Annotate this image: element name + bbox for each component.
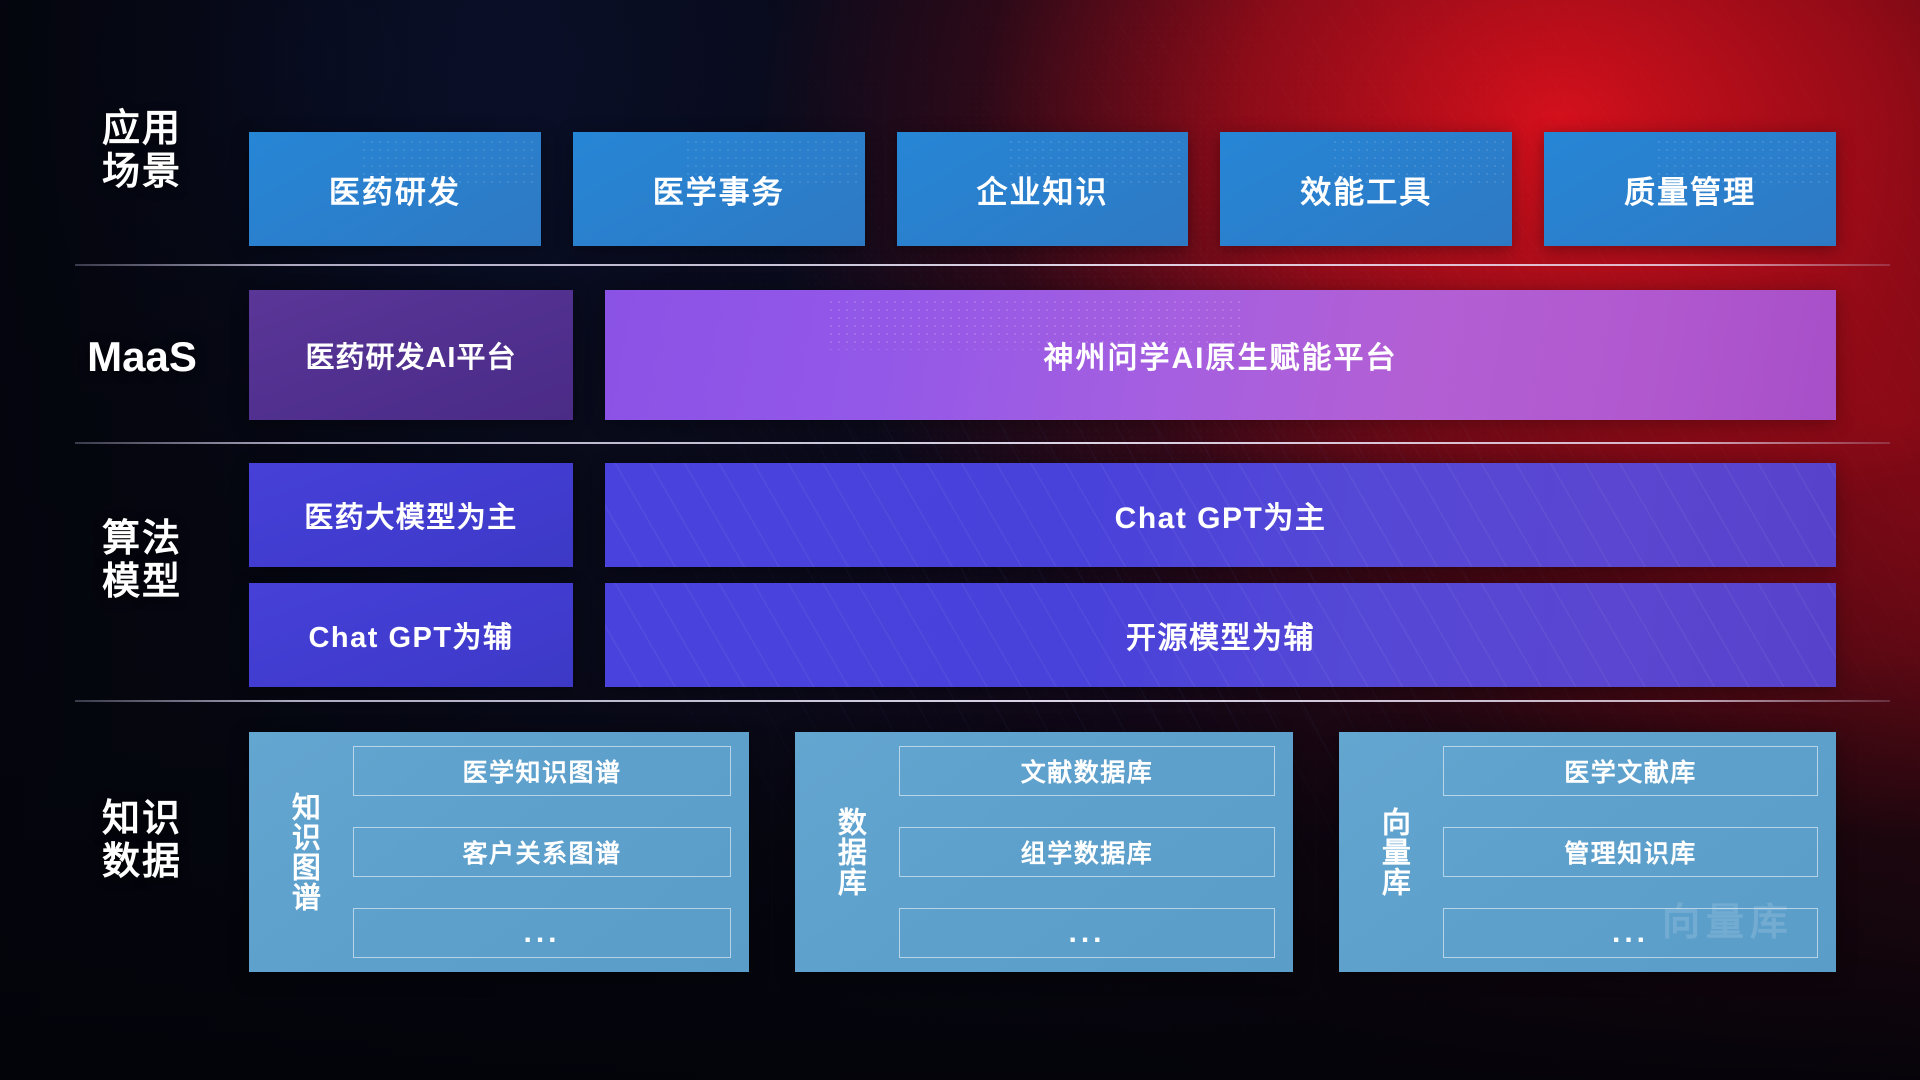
knowledge-item-more[interactable]: ...: [899, 908, 1275, 958]
algo-box-label: Chat GPT为辅: [308, 614, 513, 656]
knowledge-item-label: 客户关系图谱: [462, 834, 621, 870]
knowledge-group-database[interactable]: 数据库 文献数据库 组学数据库 ...: [795, 732, 1293, 972]
knowledge-item-customer-graph[interactable]: 客户关系图谱: [353, 827, 731, 877]
app-box-label: 企业知识: [976, 167, 1108, 212]
maas-box-label: 医药研发AI平台: [305, 334, 516, 376]
knowledge-item-label: 医学文献库: [1564, 753, 1697, 789]
maas-box-drug-rnd-ai-platform[interactable]: 医药研发AI平台: [249, 290, 573, 420]
app-box-efficiency-tools[interactable]: 效能工具: [1220, 132, 1512, 246]
maas-row: 医药研发AI平台 神州问学AI原生赋能平台: [249, 290, 1836, 420]
algo-box-label: Chat GPT为主: [1115, 493, 1327, 537]
divider-maas-algorithm: [75, 442, 1890, 444]
knowledge-item-label: 医学知识图谱: [462, 753, 621, 789]
knowledge-item-medical-graph[interactable]: 医学知识图谱: [353, 746, 731, 796]
knowledge-group-vertical-label: 向量库: [1361, 746, 1425, 958]
algorithm-line-primary: 医药大模型为主 Chat GPT为主: [249, 463, 1836, 567]
app-box-medical-affairs[interactable]: 医学事务: [573, 132, 865, 246]
row-label-application: 应用 场景: [72, 108, 212, 195]
knowledge-item-label: 文献数据库: [1021, 753, 1154, 789]
knowledge-group-vector-store[interactable]: 向量库 医学文献库 管理知识库 ... 向量库: [1339, 732, 1836, 972]
maas-box-label: 神州问学AI原生赋能平台: [1044, 333, 1398, 377]
knowledge-item-label: ...: [1612, 916, 1649, 950]
row-label-algorithm: 算法 模型: [72, 518, 212, 605]
maas-box-shenzhou-wenxue-platform[interactable]: 神州问学AI原生赋能平台: [605, 290, 1836, 420]
app-box-quality-management[interactable]: 质量管理: [1544, 132, 1836, 246]
app-box-enterprise-knowledge[interactable]: 企业知识: [897, 132, 1189, 246]
knowledge-item-medical-literature-store[interactable]: 医学文献库: [1443, 746, 1818, 796]
app-box-label: 效能工具: [1300, 167, 1432, 212]
algo-box-label: 开源模型为辅: [1126, 613, 1315, 657]
application-row: 医药研发 医学事务 企业知识 效能工具 质量管理: [249, 132, 1836, 246]
divider-application-maas: [75, 264, 1890, 266]
diagram-content: 应用 场景 医药研发 医学事务 企业知识 效能工具 质量管理 MaaS 医药研发…: [0, 0, 1920, 1080]
knowledge-item-label: 组学数据库: [1021, 834, 1154, 870]
algo-box-opensource-secondary[interactable]: 开源模型为辅: [605, 583, 1836, 687]
knowledge-item-literature-db[interactable]: 文献数据库: [899, 746, 1275, 796]
knowledge-group-vertical-label: 数据库: [817, 746, 881, 958]
algorithm-row: 医药大模型为主 Chat GPT为主 Chat GPT为辅 开源模型为辅: [249, 463, 1836, 689]
app-box-label: 医学事务: [653, 167, 785, 212]
row-label-knowledge: 知识 数据: [72, 798, 212, 885]
algo-box-chatgpt-secondary[interactable]: Chat GPT为辅: [249, 583, 573, 687]
algo-box-chatgpt-primary[interactable]: Chat GPT为主: [605, 463, 1836, 567]
row-label-maas: MaaS: [72, 333, 212, 381]
divider-algorithm-knowledge: [75, 700, 1890, 702]
knowledge-item-management-knowledge-store[interactable]: 管理知识库: [1443, 827, 1818, 877]
knowledge-item-label: ...: [1068, 916, 1105, 950]
app-box-label: 医药研发: [329, 167, 461, 212]
knowledge-item-label: 管理知识库: [1564, 834, 1697, 870]
knowledge-item-omics-db[interactable]: 组学数据库: [899, 827, 1275, 877]
app-box-label: 质量管理: [1624, 167, 1756, 212]
algo-box-label: 医药大模型为主: [304, 494, 518, 536]
knowledge-item-more[interactable]: ...: [1443, 908, 1818, 958]
algo-box-pharma-large-model-primary[interactable]: 医药大模型为主: [249, 463, 573, 567]
knowledge-group-graph[interactable]: 知识图谱 医学知识图谱 客户关系图谱 ...: [249, 732, 749, 972]
knowledge-item-label: ...: [523, 916, 560, 950]
knowledge-item-list: 医学文献库 管理知识库 ...: [1443, 746, 1818, 958]
architecture-diagram: 应用 场景 医药研发 医学事务 企业知识 效能工具 质量管理 MaaS 医药研发…: [0, 0, 1920, 1080]
knowledge-item-list: 文献数据库 组学数据库 ...: [899, 746, 1275, 958]
app-box-drug-rnd[interactable]: 医药研发: [249, 132, 541, 246]
knowledge-item-more[interactable]: ...: [353, 908, 731, 958]
knowledge-group-vertical-label: 知识图谱: [271, 746, 335, 958]
knowledge-row: 知识图谱 医学知识图谱 客户关系图谱 ... 数据库: [249, 732, 1836, 972]
algorithm-line-secondary: Chat GPT为辅 开源模型为辅: [249, 583, 1836, 687]
knowledge-item-list: 医学知识图谱 客户关系图谱 ...: [353, 746, 731, 958]
